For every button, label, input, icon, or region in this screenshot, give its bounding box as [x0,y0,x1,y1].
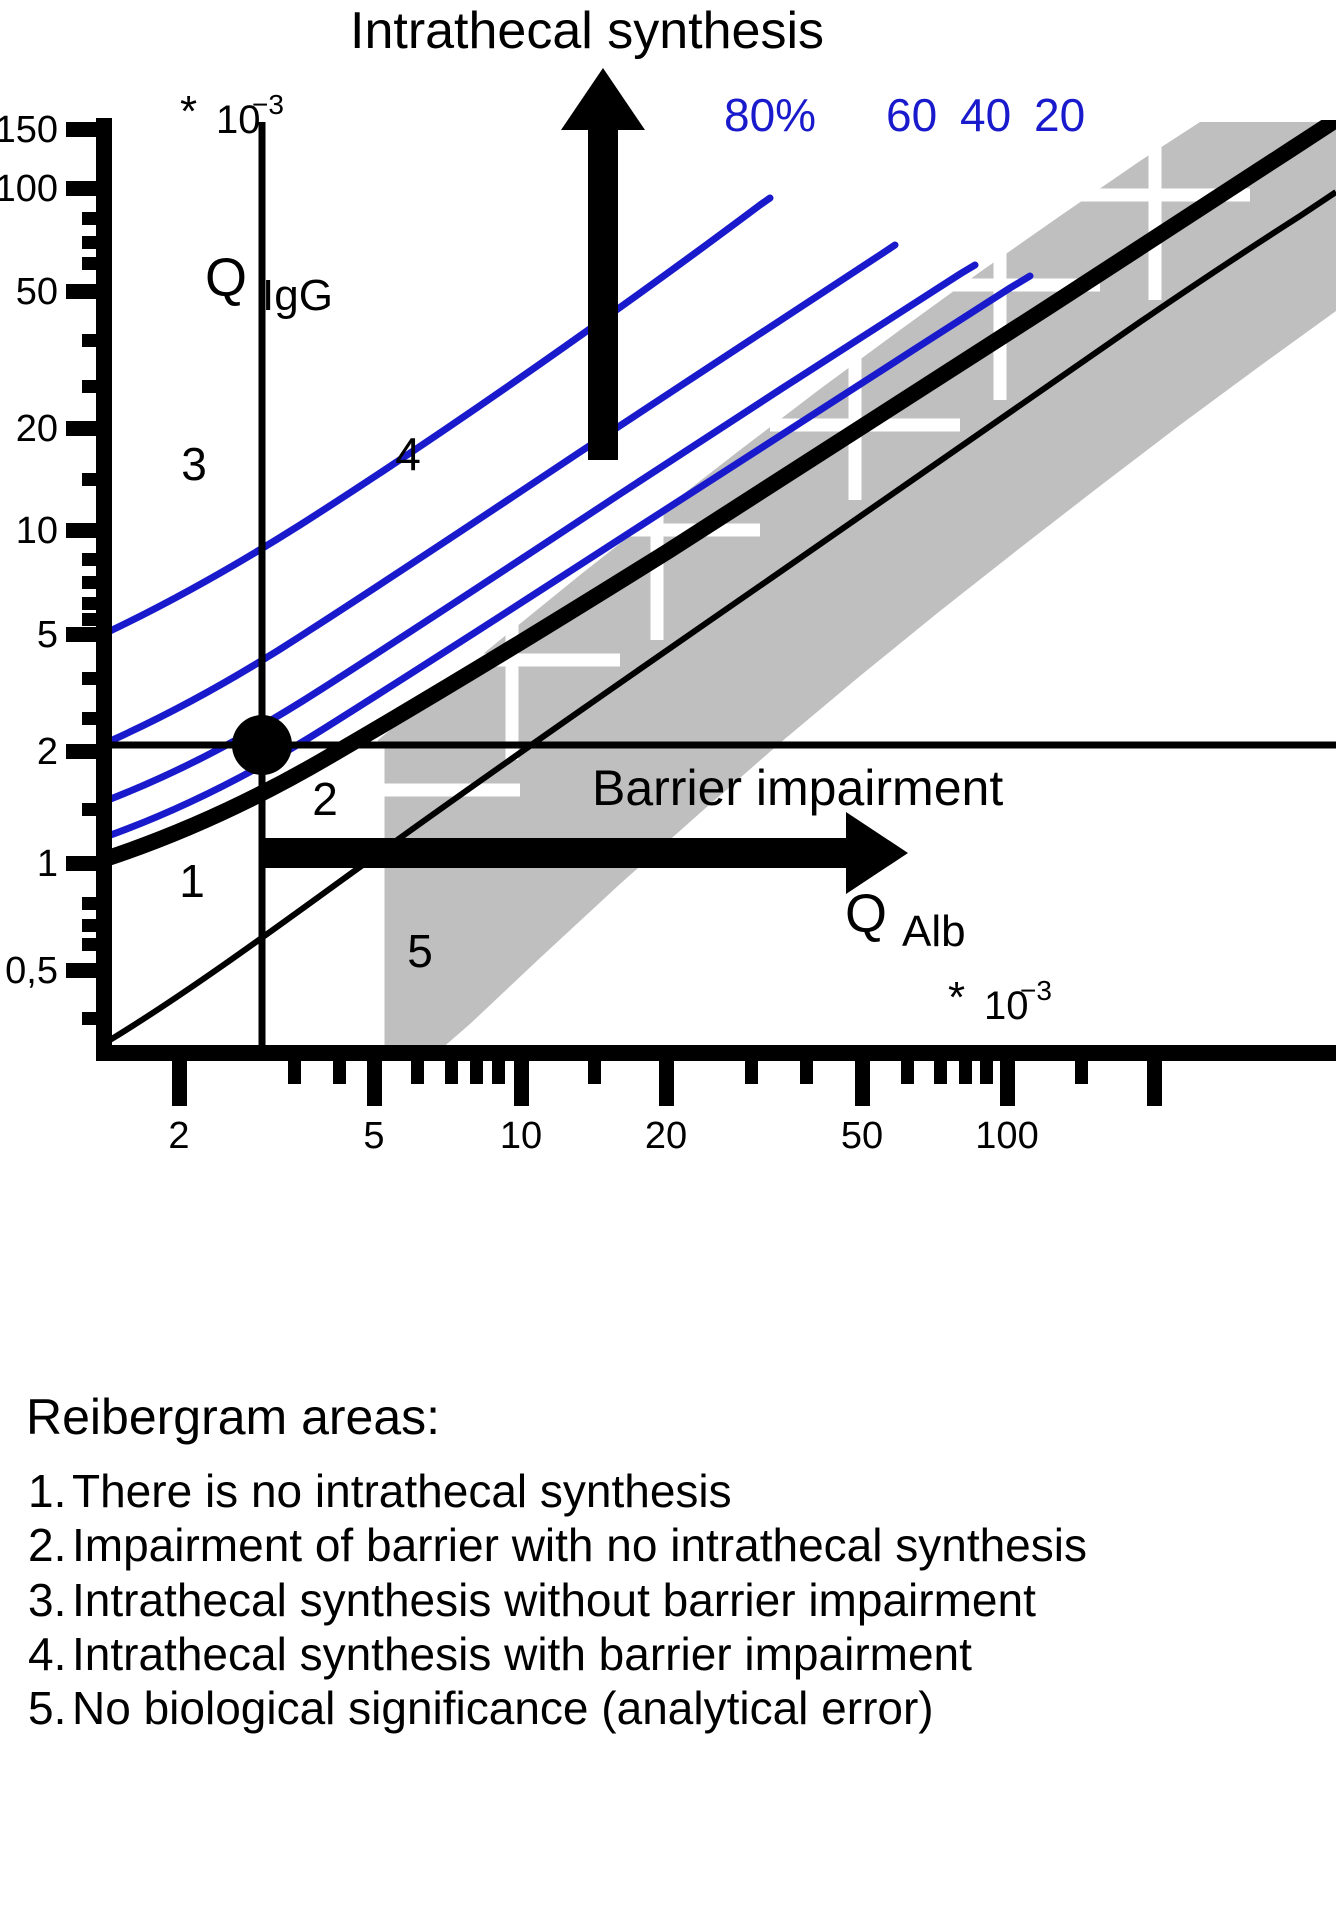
x-tick-label: 100 [975,1115,1038,1157]
percent-label-80: 80% [724,89,816,141]
percent-label-20: 20 [1034,89,1085,141]
y-tick-label: 50 [16,271,58,313]
x-tick-label: 20 [645,1115,687,1157]
x-multiplier-star: * [948,973,965,1022]
legend-item-2: 2. Impairment of barrier with no intrath… [28,1518,1337,1572]
y-multiplier-star: * [180,87,197,136]
x-axis-subscript: Alb [902,907,966,956]
y-tick-label: 100 [0,168,58,210]
y-tick-label: 5 [37,614,58,656]
legend-item-text: Intrathecal synthesis without barrier im… [72,1573,1036,1627]
chart-title: Intrathecal synthesis [350,2,824,60]
y-axis-tick-labels: 150 100 50 20 10 5 2 1 0,5 [0,109,58,992]
region-label-2: 2 [312,773,338,825]
y-tick-label: 150 [0,109,58,151]
data-point-marker[interactable] [232,715,292,775]
legend-item-text: No biological significance (analytical e… [72,1681,934,1735]
y-tick-label: 10 [16,510,58,552]
reibergram-figure: 150 100 50 20 10 5 2 1 0,5 2 5 10 20 50 … [0,0,1337,1924]
legend-item-3: 3. Intrathecal synthesis without barrier… [28,1573,1337,1627]
legend-item-number: 3. [28,1573,72,1627]
legend-item-text: Intrathecal synthesis with barrier impai… [72,1627,972,1681]
region-label-4: 4 [395,428,421,480]
x-axis-title: Q Alb [845,884,966,956]
x-axis-minor-ticks [288,1058,1088,1084]
legend-item-1: 1. There is no intrathecal synthesis [28,1464,1337,1518]
y-tick-label: 0,5 [5,950,58,992]
barrier-impairment-label: Barrier impairment [592,760,1003,816]
y-axis-symbol: Q [205,248,247,308]
x-axis-major-ticks [172,1058,1162,1106]
legend-item-4: 4. Intrathecal synthesis with barrier im… [28,1627,1337,1681]
legend-item-5: 5. No biological significance (analytica… [28,1681,1337,1735]
x-tick-label: 10 [500,1115,542,1157]
legend-title: Reibergram areas: [26,1392,1337,1442]
legend-list: 1. There is no intrathecal synthesis 2. … [0,1464,1337,1735]
legend-block: Reibergram areas: 1. There is no intrath… [0,1392,1337,1735]
percent-label-40: 40 [960,89,1011,141]
x-tick-label: 50 [841,1115,883,1157]
x-tick-label: 2 [168,1115,189,1157]
legend-item-number: 1. [28,1464,72,1518]
gray-reference-band [340,122,1336,1050]
chart-area: 150 100 50 20 10 5 2 1 0,5 2 5 10 20 50 … [0,0,1337,1390]
legend-item-text: Impairment of barrier with no intratheca… [72,1518,1087,1572]
x-axis-symbol: Q [845,884,887,944]
region-label-1: 1 [179,855,205,907]
y-axis-multiplier: * 10 −3 [180,87,284,142]
legend-item-text: There is no intrathecal synthesis [72,1464,732,1518]
x-multiplier-exponent: −3 [1020,975,1052,1006]
y-axis-title: Q IgG [205,248,333,320]
y-tick-label: 20 [16,408,58,450]
reibergram-svg: 150 100 50 20 10 5 2 1 0,5 2 5 10 20 50 … [0,0,1337,1390]
region-label-3: 3 [181,438,207,490]
y-multiplier-exponent: −3 [252,89,284,120]
y-tick-label: 2 [37,731,58,773]
percent-label-60: 60 [886,89,937,141]
x-tick-label: 5 [363,1115,384,1157]
intrathecal-synthesis-arrow [561,68,645,460]
y-axis-subscript: IgG [262,271,333,320]
x-axis-tick-labels: 2 5 10 20 50 100 [168,1115,1038,1157]
y-tick-label: 1 [37,843,58,885]
legend-item-number: 5. [28,1681,72,1735]
region-label-5: 5 [407,925,433,977]
legend-item-number: 2. [28,1518,72,1572]
fraction-percent-labels: 80% 60 40 20 [724,89,1085,141]
x-axis-multiplier: * 10 −3 [948,973,1052,1028]
legend-item-number: 4. [28,1627,72,1681]
